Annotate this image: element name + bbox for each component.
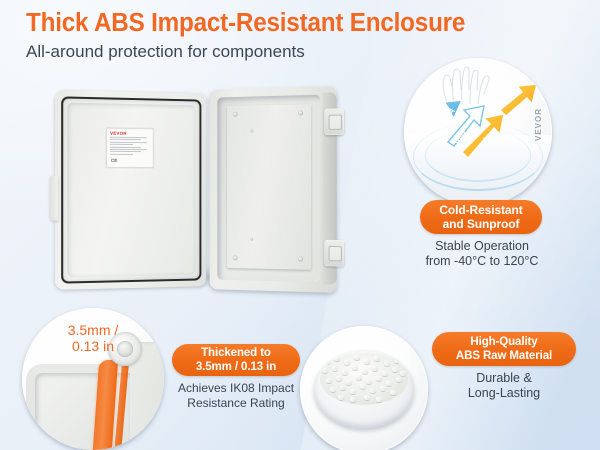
vevor-watermark: VEVOR (534, 108, 543, 141)
caption-abs-material: Durable & Long-Lasting (432, 371, 576, 401)
mounting-plate (227, 104, 311, 270)
lid-gasket-seal: VEVOR CE (61, 96, 201, 283)
badge-abs-material: High-Quality ABS Raw Material (432, 332, 576, 366)
pellet-dish (314, 350, 414, 428)
thickness-callout: 3.5mm / 0.13 in (46, 322, 140, 354)
label-fineprint (110, 137, 150, 155)
label-brand-text: VEVOR (110, 131, 150, 137)
page-title: Thick ABS Impact-Resistant Enclosure (26, 8, 465, 38)
abs-pellets (320, 353, 408, 405)
header-block: Thick ABS Impact-Resistant Enclosure All… (26, 8, 488, 64)
lid-inner-surface: VEVOR CE (67, 103, 195, 278)
svg-text:UVB: UVB (423, 123, 439, 138)
lid-side-tab (50, 176, 58, 221)
badge-cold-resistant: Cold-Resistant and Sunproof (420, 200, 542, 234)
enclosure-body (210, 86, 337, 293)
body-cavity (217, 95, 320, 283)
latch-clip-top (324, 108, 344, 135)
thickness-closeup-graphic: 3.5mm / 0.13 in (22, 308, 164, 450)
product-photo: VEVOR CE (42, 84, 352, 299)
uv-arrows-diagram: UVB UVA UVB UVA (404, 58, 552, 206)
enclosure-lid: VEVOR CE (55, 90, 206, 290)
caption-thickened: Achieves IK08 Impact Resistance Rating (156, 381, 316, 411)
badge-thickened: Thickened to 3.5mm / 0.13 in (172, 344, 300, 376)
uv-protection-graphic: UVB UVA UVB UVA VEVOR (404, 58, 552, 206)
product-label: VEVOR CE (106, 128, 154, 169)
label-certification-marks: CE (111, 158, 117, 163)
caption-cold-resistant: Stable Operation from -40°C to 120°C (398, 239, 566, 269)
abs-pellets-graphic (300, 326, 428, 450)
marketing-banner: Thick ABS Impact-Resistant Enclosure All… (0, 0, 600, 450)
latch-clip-bottom (324, 240, 344, 267)
